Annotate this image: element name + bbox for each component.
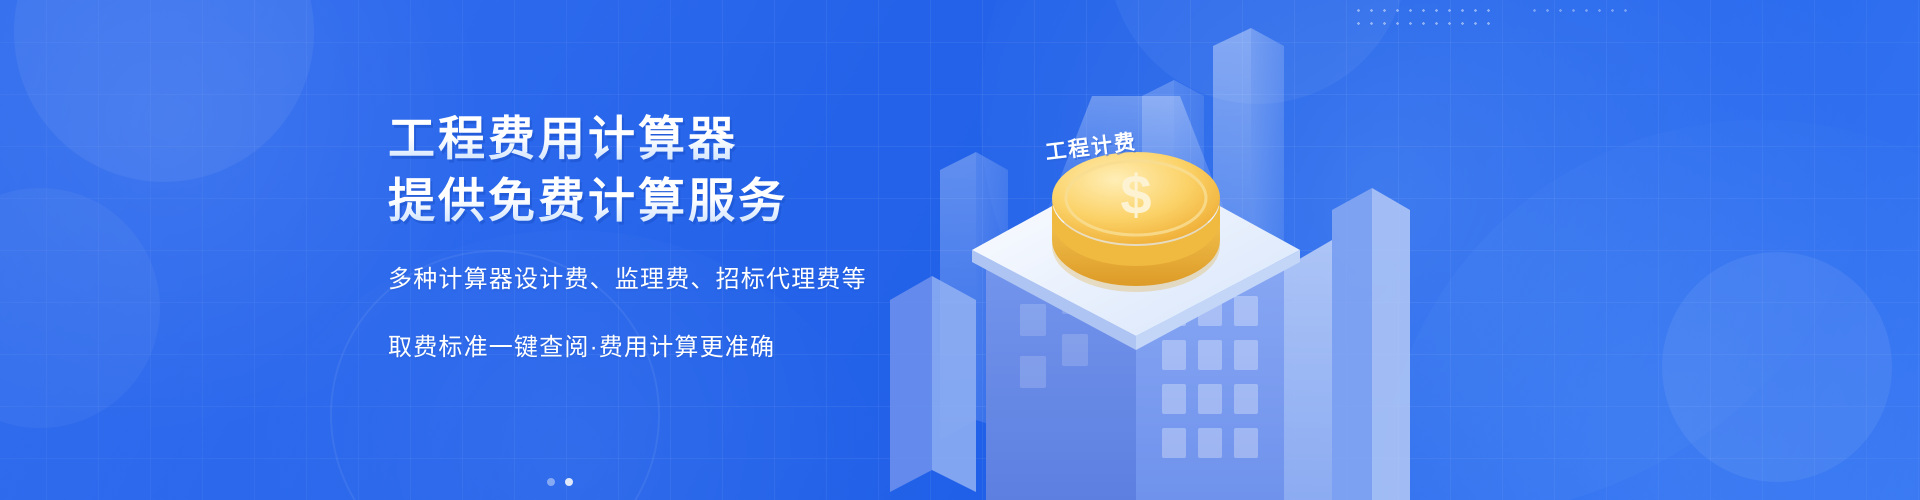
subtitle-line-1: 多种计算器设计费、监理费、招标代理费等 bbox=[388, 260, 1028, 300]
hero-banner: $ 工程计费 工程费用计算器 提供免费计算服务 多种计算器设计费、监理费、招标代… bbox=[0, 0, 1920, 500]
background-glow-right bbox=[1380, 120, 1920, 500]
decorative-circle-top-left bbox=[14, 0, 314, 182]
coin-dollar-symbol: $ bbox=[1120, 163, 1151, 226]
carousel-dot[interactable] bbox=[547, 478, 555, 486]
decorative-circle-bottom-right bbox=[1662, 252, 1892, 482]
gold-coin-stack-icon: $ bbox=[1052, 152, 1220, 292]
headline-line-2: 提供免费计算服务 bbox=[388, 170, 1028, 232]
headline-line-1: 工程费用计算器 bbox=[388, 108, 1028, 170]
subtitle-line-2: 取费标准一键查阅·费用计算更准确 bbox=[388, 328, 1028, 368]
foreground-bar-right bbox=[1332, 188, 1410, 500]
decorative-dot-matrix-top-right-secondary bbox=[1528, 4, 1628, 22]
carousel-indicator[interactable] bbox=[0, 478, 1120, 486]
carousel-dot-active[interactable] bbox=[565, 478, 573, 486]
banner-copy-block: 工程费用计算器 提供免费计算服务 多种计算器设计费、监理费、招标代理费等 取费标… bbox=[388, 108, 1028, 368]
decorative-circle-left bbox=[0, 188, 160, 428]
